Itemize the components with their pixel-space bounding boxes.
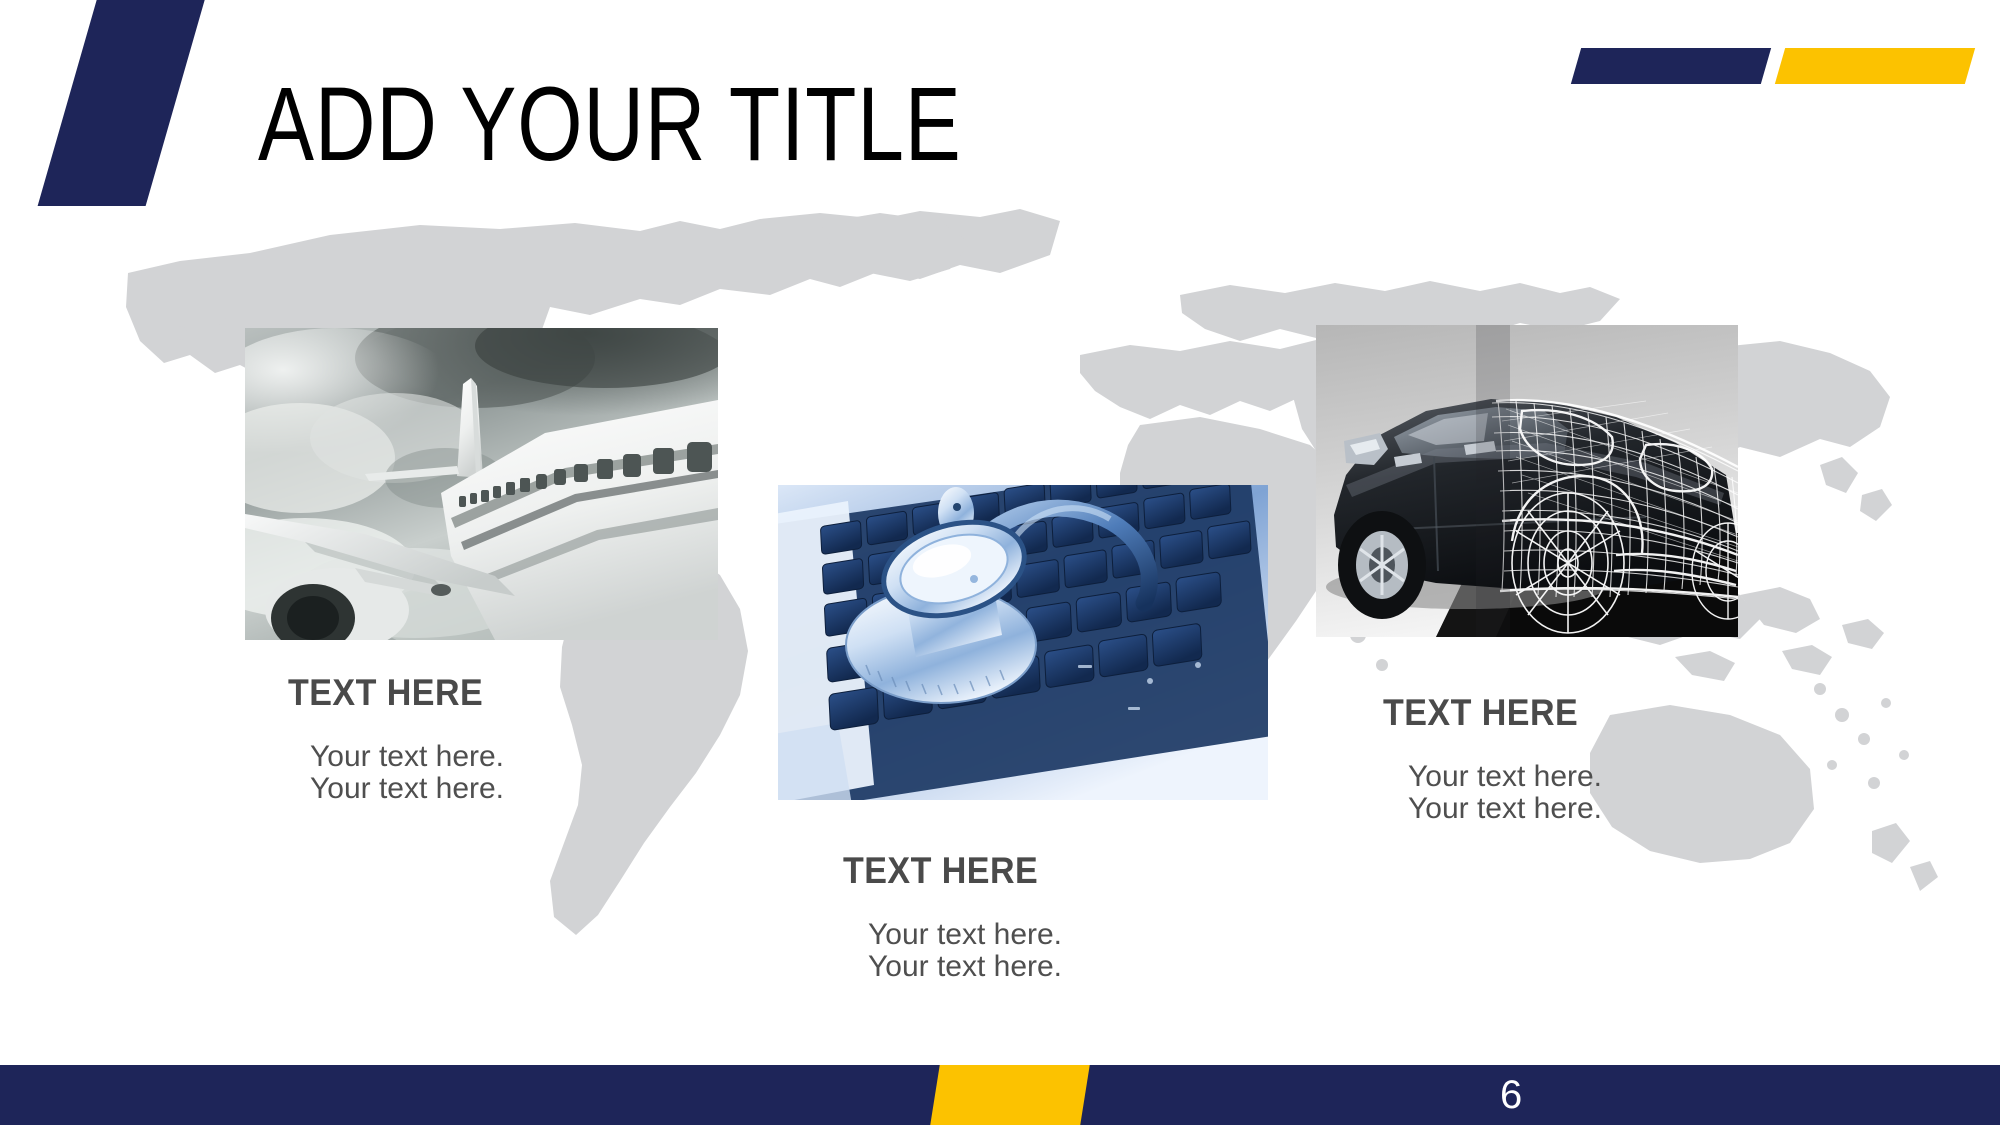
column-heading: TEXT HERE [1383,692,1585,734]
column-body: Your text here. Your text here. [1408,761,1602,826]
page-title: ADD YOUR TITLE [258,72,962,177]
image-car-wireframe [1316,325,1738,637]
navy-accent-bar [1571,48,1771,84]
column-heading: TEXT HERE [843,850,1045,892]
corner-accent-shape [38,0,207,206]
text-block-car: TEXT HERE Your text here. Your text here… [1383,692,1602,826]
image-stethoscope-keyboard [778,485,1268,800]
body-line-2: Your text here. [868,951,1062,983]
text-block-plane: TEXT HERE Your text here. Your text here… [288,672,504,806]
image-airplane [245,328,718,640]
body-line-1: Your text here. [310,741,504,773]
top-right-accent-bars [1576,48,1970,84]
body-line-1: Your text here. [868,919,1062,951]
text-block-medical: TEXT HERE Your text here. Your text here… [843,850,1062,984]
body-line-2: Your text here. [310,773,504,805]
presentation-slide: ADD YOUR TITLE [0,0,2000,1125]
column-body: Your text here. Your text here. [868,919,1062,984]
slide-footer: 6 [0,1065,2000,1125]
body-line-2: Your text here. [1408,793,1602,825]
column-body: Your text here. Your text here. [310,741,504,806]
body-line-1: Your text here. [1408,761,1602,793]
gold-accent-bar [1775,48,1975,84]
footer-gold-accent [930,1065,1090,1125]
page-number: 6 [1500,1065,1522,1125]
column-heading: TEXT HERE [288,672,487,714]
